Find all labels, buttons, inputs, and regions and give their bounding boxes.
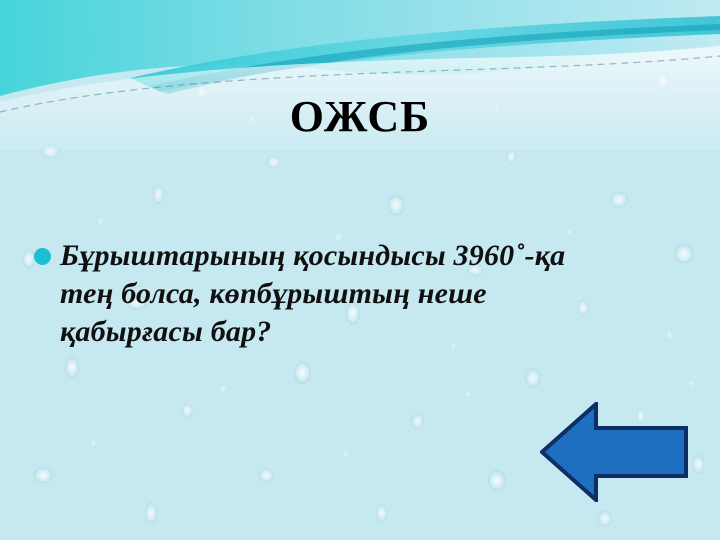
list-item: Бұрыштарының қосындысы 3960˚-қа тең болс… (34, 237, 694, 351)
slide-title: ОЖСБ (0, 92, 720, 142)
presentation-slide: ОЖСБ Бұрыштарының қосындысы 3960˚-қа тең… (0, 0, 720, 540)
question-line-3: қабырғасы бар? (60, 313, 694, 351)
slide-body: Бұрыштарының қосындысы 3960˚-қа тең болс… (34, 237, 694, 351)
question-line-1: Бұрыштарының қосындысы 3960˚-қа (60, 237, 694, 275)
back-arrow-button[interactable] (540, 402, 688, 502)
question-text: Бұрыштарының қосындысы 3960˚-қа тең болс… (60, 237, 694, 351)
question-line-2: тең болса, көпбұрыштың неше (60, 275, 694, 313)
page-title: ОЖСБ (290, 92, 430, 141)
bullet-dot-icon (34, 248, 51, 265)
arrow-left-icon[interactable] (540, 402, 688, 502)
